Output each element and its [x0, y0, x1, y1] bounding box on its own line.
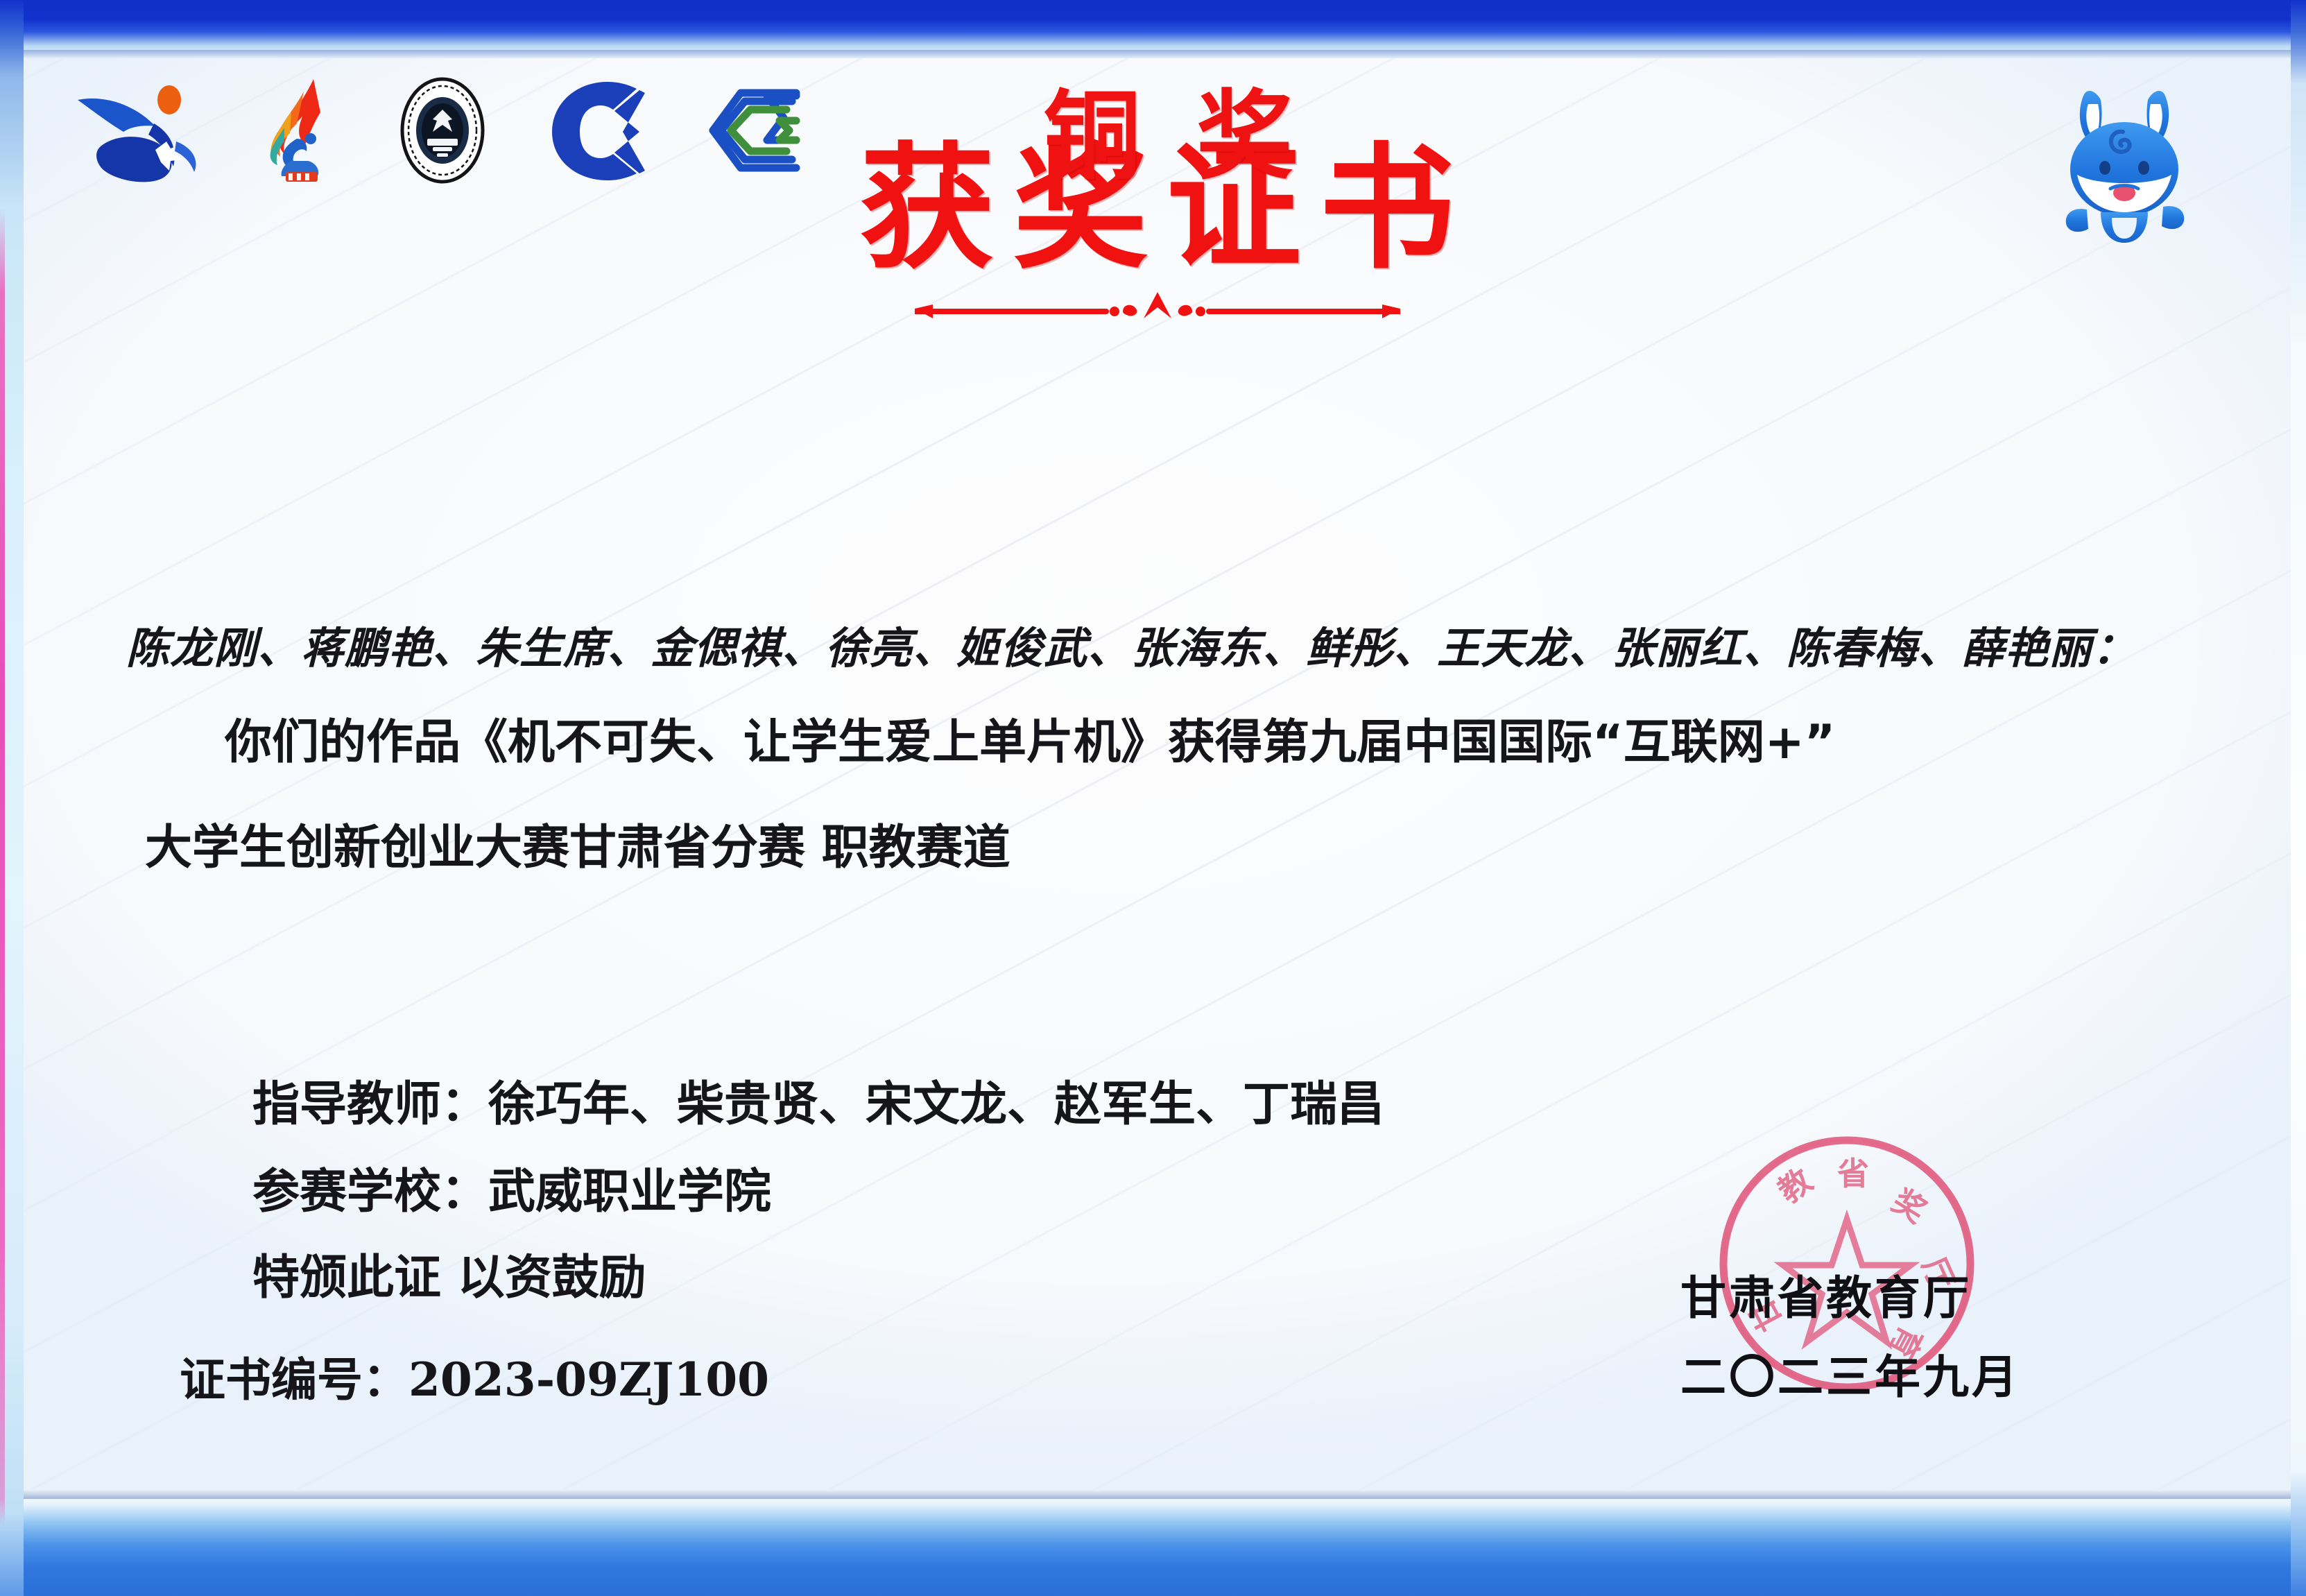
certificate-paper: 获奖证书 陈龙刚、蒋鹏艳、朱生席、金偲祺、徐亮、姬俊武、张海东、鲜彤、	[24, 58, 2291, 1490]
certificate-photo: 获奖证书 陈龙刚、蒋鹏艳、朱生席、金偲祺、徐亮、姬俊武、张海东、鲜彤、	[0, 0, 2306, 1596]
svg-text:教: 教	[1771, 1161, 1819, 1210]
blue-rabbit-mascot-icon	[2034, 64, 2214, 244]
recipient-names: 陈龙刚、蒋鹏艳、朱生席、金偲祺、徐亮、姬俊武、张海东、鲜彤、王天龙、张丽红、陈春…	[126, 613, 2136, 676]
ccb-bank-icon	[541, 75, 652, 186]
flame-torch-icon	[254, 75, 344, 186]
issue-date: 二〇二三年九月	[1680, 1340, 2020, 1407]
award-sentence-line-1: 你们的作品《机不可失、让学生爱上单片机》获得第九届中国国际“互联网+”	[225, 703, 1835, 772]
issuer-name: 甘肃省教育厅	[1680, 1261, 2020, 1328]
certificate-number: 证书编号：2023-09ZJ100	[180, 1343, 769, 1409]
encouragement-line: 特颁此证 以资鼓励	[252, 1239, 646, 1307]
sponsor-logo-strip	[72, 75, 813, 186]
issuer-block: 甘肃省教育厅 二〇二三年九月	[1680, 1261, 2020, 1407]
sports-swoosh-icon	[72, 75, 211, 186]
china-mobile-icon	[695, 75, 813, 186]
left-border-pink-hairline	[0, 208, 5, 1526]
right-border-gradient	[2291, 0, 2306, 1596]
advisors-line: 指导教师：徐巧年、柴贵贤、宋文龙、赵军生、丁瑞昌	[252, 1065, 1384, 1134]
svg-text:奖: 奖	[1886, 1182, 1933, 1230]
award-sentence-line-2: 大学生创新创业大赛甘肃省分赛 职教赛道	[145, 809, 1010, 877]
school-line: 参赛学校：武威职业学院	[252, 1153, 771, 1221]
university-emblem-icon	[387, 75, 498, 186]
svg-text:省: 省	[1837, 1155, 1869, 1192]
